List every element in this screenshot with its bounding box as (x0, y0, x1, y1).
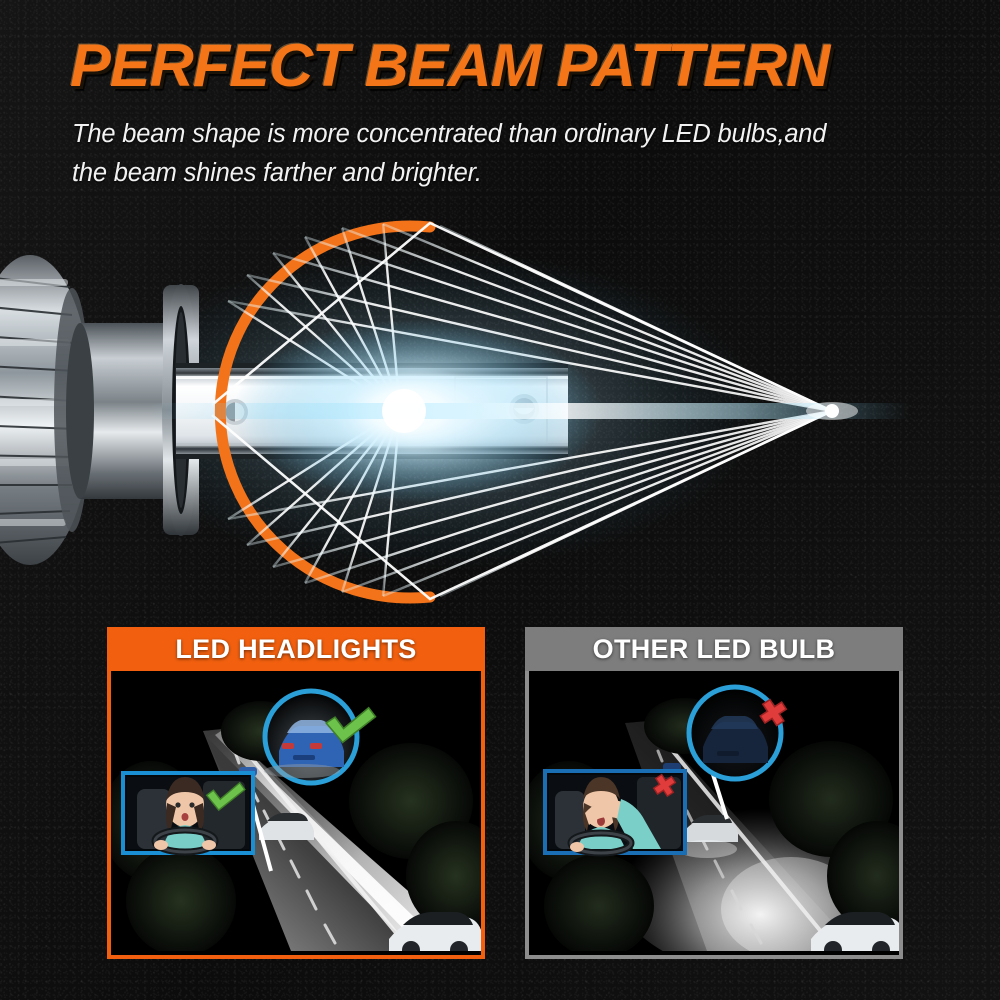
led-lens-flare (150, 403, 910, 419)
panel-title-right: OTHER LED BULB (525, 627, 903, 671)
driver-inset-bad (529, 671, 899, 951)
night-road-scene-good (111, 671, 481, 955)
driver-clear-vision (127, 777, 249, 852)
product-feature-image: PERFECT BEAM PATTERN The beam shape is m… (0, 0, 1000, 1000)
page-subtitle: The beam shape is more concentrated than… (72, 115, 832, 193)
night-road-scene-bad (529, 671, 899, 955)
led-center-point (382, 389, 426, 433)
comparison-panel-other-led-bulb[interactable]: OTHER LED BULB (525, 627, 903, 959)
beam-pattern-diagram (0, 205, 1000, 605)
driver-inset-good (111, 671, 481, 951)
panel-body-right (525, 671, 903, 959)
panel-body-left (107, 671, 485, 959)
comparison-panel-led-headlights[interactable]: LED HEADLIGHTS (107, 627, 485, 959)
page-title: PERFECT BEAM PATTERN (70, 36, 957, 96)
beam-focal-glow (806, 402, 858, 420)
panel-title-left: LED HEADLIGHTS (107, 627, 485, 671)
